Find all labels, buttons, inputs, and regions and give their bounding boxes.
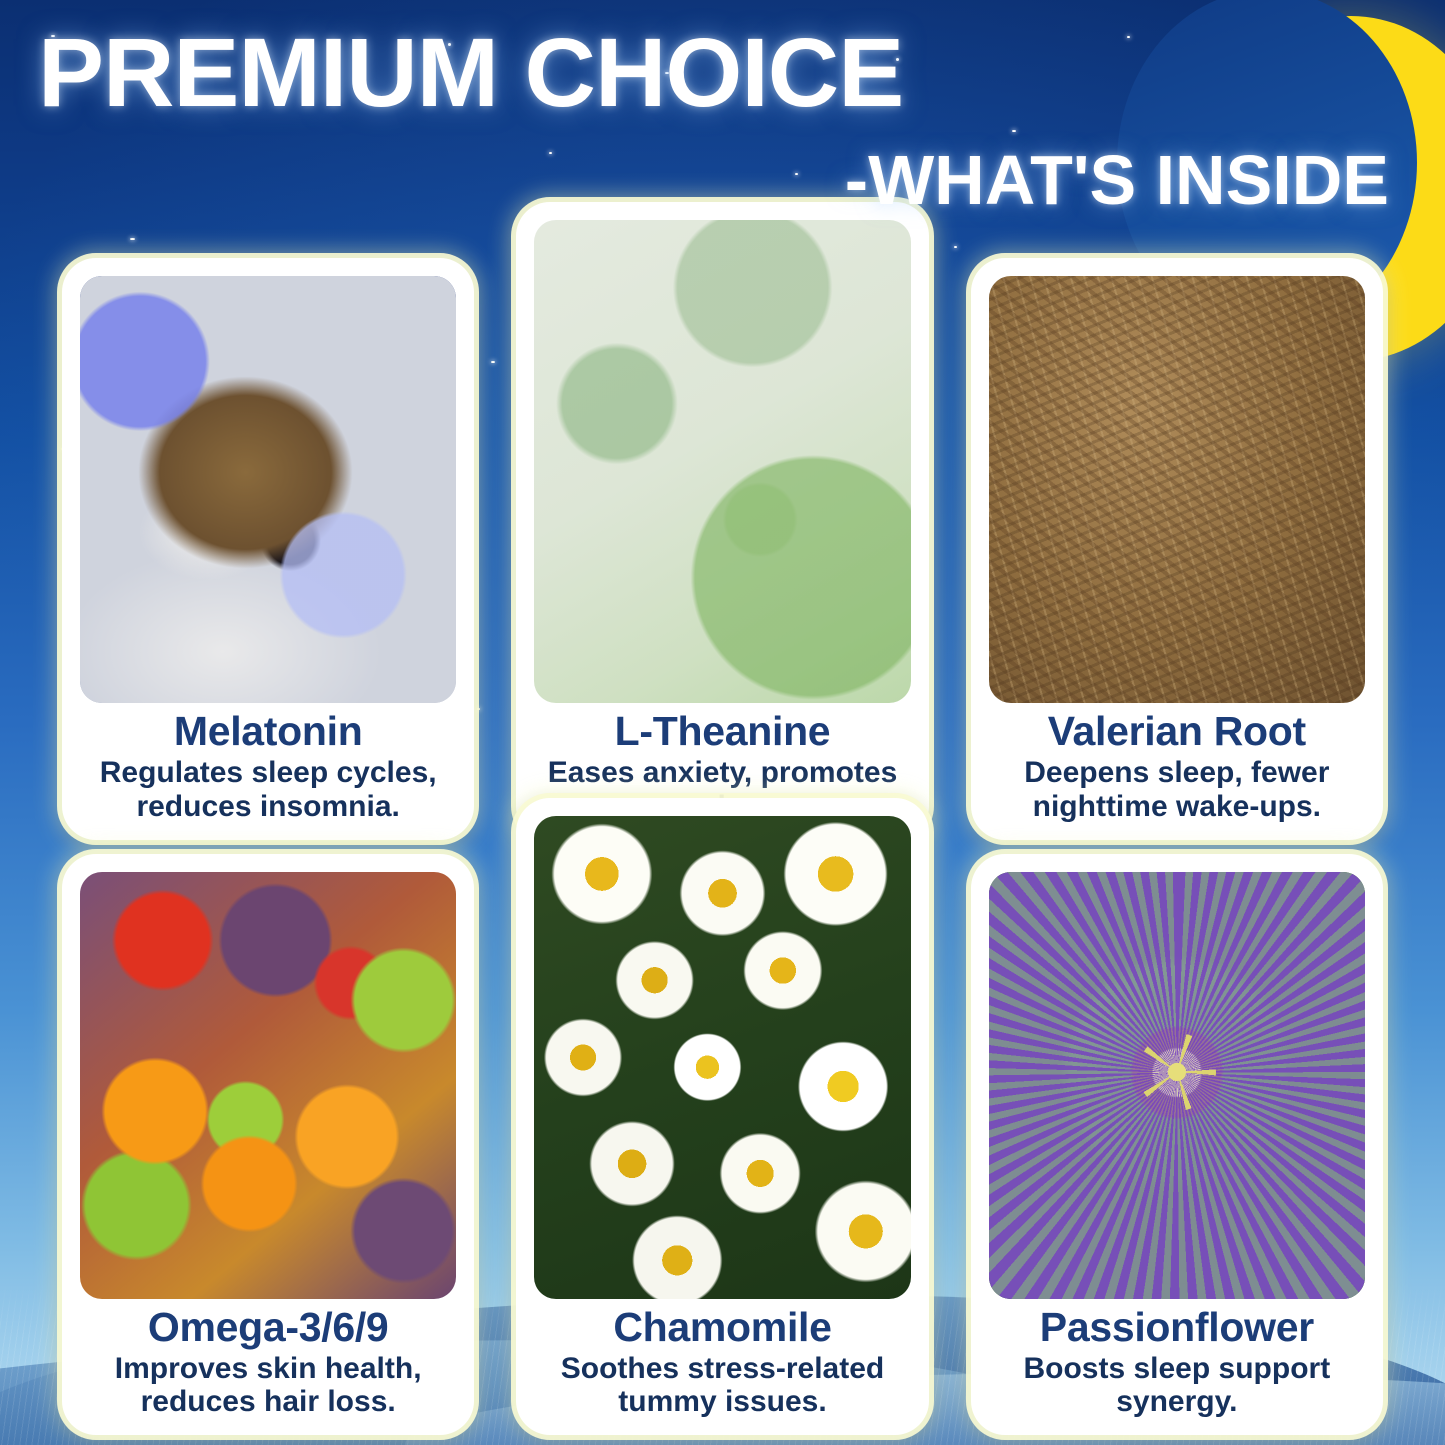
omega-text: Omega-3/6/9 Improves skin health, reduce… [80,1299,456,1421]
grid-cell-melatonin: Melatonin Regulates sleep cycles, reduce… [62,258,474,840]
grid-cell-chamomile: Chamomile Soothes stress-related tummy i… [516,798,928,1436]
page-subtitle: -WHAT'S INSIDE [38,145,1389,215]
ingredient-card-grid: Melatonin Regulates sleep cycles, reduce… [62,258,1383,1435]
card-description: Boosts sleep support synergy. [993,1352,1361,1419]
card-description: Improves skin health, reduces hair loss. [84,1352,452,1419]
chamomile-text: Chamomile Soothes stress-related tummy i… [534,1299,910,1421]
passionflower-photo [989,872,1365,1299]
card-title: L-Theanine [538,709,906,753]
card-title: Passionflower [993,1305,1361,1349]
card-title: Melatonin [84,709,452,753]
ingredient-card-chamomile[interactable]: Chamomile Soothes stress-related tummy i… [516,798,928,1436]
header: PREMIUM CHOICE -WHAT'S INSIDE [0,0,1445,215]
card-title: Omega-3/6/9 [84,1305,452,1349]
green-petri-dish-photo [534,220,910,703]
page-title: PREMIUM CHOICE [38,26,1416,119]
grid-cell-valerian-root: Valerian Root Deepens sleep, fewer night… [971,258,1383,840]
card-description: Deepens sleep, fewer nighttime wake-ups. [993,756,1361,823]
card-title: Valerian Root [993,709,1361,753]
l-theanine-photo [534,220,910,703]
ingredient-card-passionflower[interactable]: Passionflower Boosts sleep support syner… [971,854,1383,1436]
ingredient-card-valerian-root[interactable]: Valerian Root Deepens sleep, fewer night… [971,258,1383,840]
ingredient-card-melatonin[interactable]: Melatonin Regulates sleep cycles, reduce… [62,258,474,840]
grid-cell-omega: Omega-3/6/9 Improves skin health, reduce… [62,854,474,1436]
chamomile-daisies-photo [534,816,910,1299]
card-description: Soothes stress-related tummy issues. [538,1352,906,1419]
purple-passionflower-photo [989,872,1365,1299]
card-description: Regulates sleep cycles, reduces insomnia… [84,756,452,823]
omega-photo [80,872,456,1299]
melatonin-photo [80,276,456,703]
grid-cell-passionflower: Passionflower Boosts sleep support syner… [971,854,1383,1436]
valerian-root-text: Valerian Root Deepens sleep, fewer night… [989,703,1365,825]
ingredient-card-omega[interactable]: Omega-3/6/9 Improves skin health, reduce… [62,854,474,1436]
passionflower-text: Passionflower Boosts sleep support syner… [989,1299,1365,1421]
mixed-fruit-photo [80,872,456,1299]
valerian-root-photo [989,276,1365,703]
sleeping-dog-photo [80,276,456,703]
grid-cell-l-theanine: L-Theanine Eases anxiety, promotes calm. [516,202,928,840]
chamomile-photo [534,816,910,1299]
dried-valerian-root-photo [989,276,1365,703]
card-title: Chamomile [538,1305,906,1349]
melatonin-text: Melatonin Regulates sleep cycles, reduce… [80,703,456,825]
ingredient-card-l-theanine[interactable]: L-Theanine Eases anxiety, promotes calm. [516,202,928,840]
